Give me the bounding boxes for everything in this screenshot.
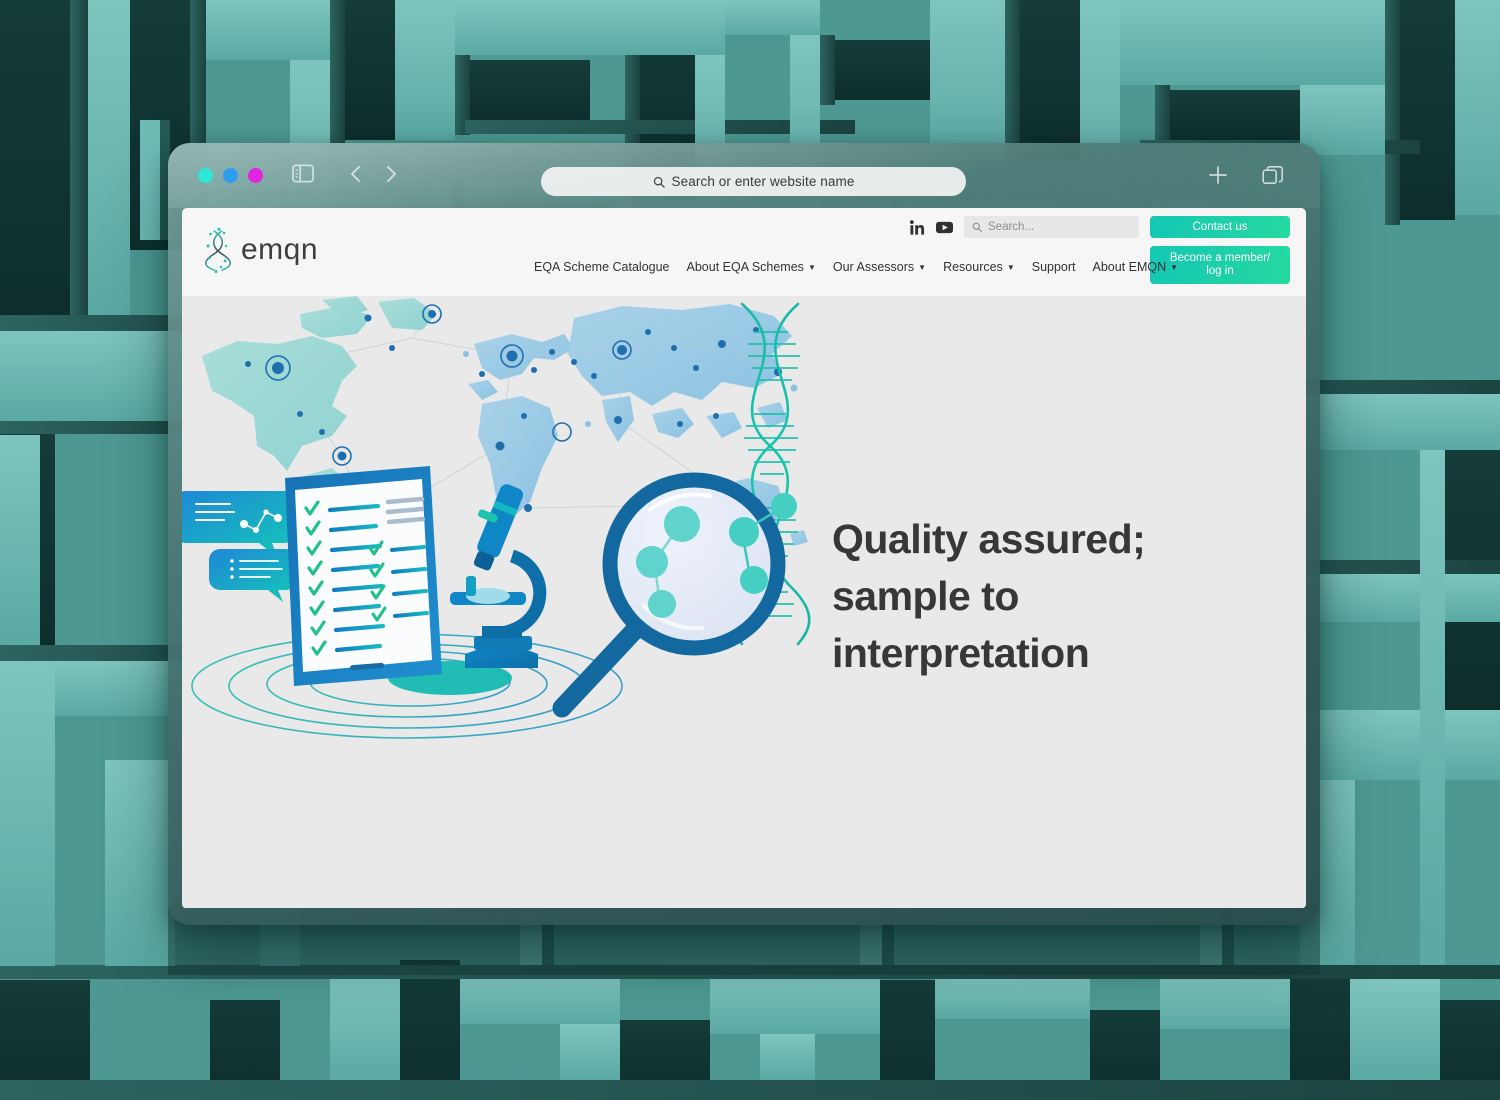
linkedin-icon[interactable] — [910, 220, 925, 235]
nav-label: Resources — [943, 260, 1003, 274]
address-bar-placeholder: Search or enter website name — [672, 174, 855, 189]
hero-headline: Quality assured; sample to interpretatio… — [832, 511, 1212, 682]
header-utility-row: Search... Contact us — [910, 216, 1290, 238]
logo-wordmark: emqn — [241, 233, 318, 267]
browser-chrome: Search or enter website name — [168, 143, 1320, 208]
chevron-down-icon: ▼ — [808, 264, 816, 272]
nav-item-eqa-scheme-catalogue[interactable]: EQA Scheme Catalogue — [534, 260, 670, 274]
site-logo[interactable]: emqn — [202, 227, 318, 273]
nav-label: Support — [1032, 260, 1076, 274]
nav-label: EQA Scheme Catalogue — [534, 260, 670, 274]
search-icon — [972, 222, 982, 232]
nav-item-about-eqa-schemes[interactable]: About EQA Schemes ▼ — [687, 260, 816, 274]
nav-item-resources[interactable]: Resources ▼ — [943, 260, 1015, 274]
nav-item-support[interactable]: Support — [1032, 260, 1076, 274]
browser-window: Search or enter website name — [168, 143, 1320, 925]
nav-label: Our Assessors — [833, 260, 914, 274]
nav-item-our-assessors[interactable]: Our Assessors ▼ — [833, 260, 926, 274]
tablet-with-checklist — [285, 466, 442, 686]
search-icon — [653, 176, 665, 188]
main-navigation: EQA Scheme Catalogue About EQA Schemes ▼… — [534, 260, 1178, 274]
become-member-line1: Become a member/ — [1170, 252, 1270, 265]
speech-bubbles — [182, 491, 297, 602]
nav-item-about-emqn[interactable]: About EMQN ▼ — [1093, 260, 1179, 274]
chevron-right-icon[interactable] — [383, 164, 399, 184]
window-controls — [198, 168, 263, 183]
address-bar[interactable]: Search or enter website name — [541, 167, 966, 196]
magnifying-glass-with-molecule — [562, 480, 797, 708]
chevron-left-icon[interactable] — [348, 164, 364, 184]
sidebar-toggle-icon[interactable] — [292, 164, 314, 183]
chevron-down-icon: ▼ — [1170, 264, 1178, 272]
zoom-button[interactable] — [248, 168, 263, 183]
genomics-quality-illustration — [182, 296, 882, 861]
dna-helix-icon — [202, 227, 232, 273]
contact-us-button[interactable]: Contact us — [1150, 216, 1290, 238]
headline-line-3: interpretation — [832, 625, 1212, 682]
headline-line-1: Quality assured; — [832, 511, 1212, 568]
hero-section: Quality assured; sample to interpretatio… — [182, 296, 1306, 908]
plus-icon[interactable] — [1206, 163, 1230, 187]
minimize-button[interactable] — [223, 168, 238, 183]
chevron-down-icon: ▼ — [918, 264, 926, 272]
chevron-down-icon: ▼ — [1007, 264, 1015, 272]
headline-line-2: sample to — [832, 568, 1212, 625]
site-search-placeholder: Search... — [988, 221, 1034, 233]
site-header: emqn — [182, 208, 1306, 296]
close-button[interactable] — [198, 168, 213, 183]
become-member-line2: log in — [1170, 265, 1270, 278]
youtube-icon[interactable] — [936, 221, 953, 234]
page-viewport: emqn — [182, 208, 1306, 908]
site-search-input[interactable]: Search... — [964, 216, 1139, 238]
nav-label: About EMQN — [1093, 260, 1167, 274]
nav-label: About EQA Schemes — [687, 260, 804, 274]
tab-overview-icon[interactable] — [1262, 165, 1284, 187]
